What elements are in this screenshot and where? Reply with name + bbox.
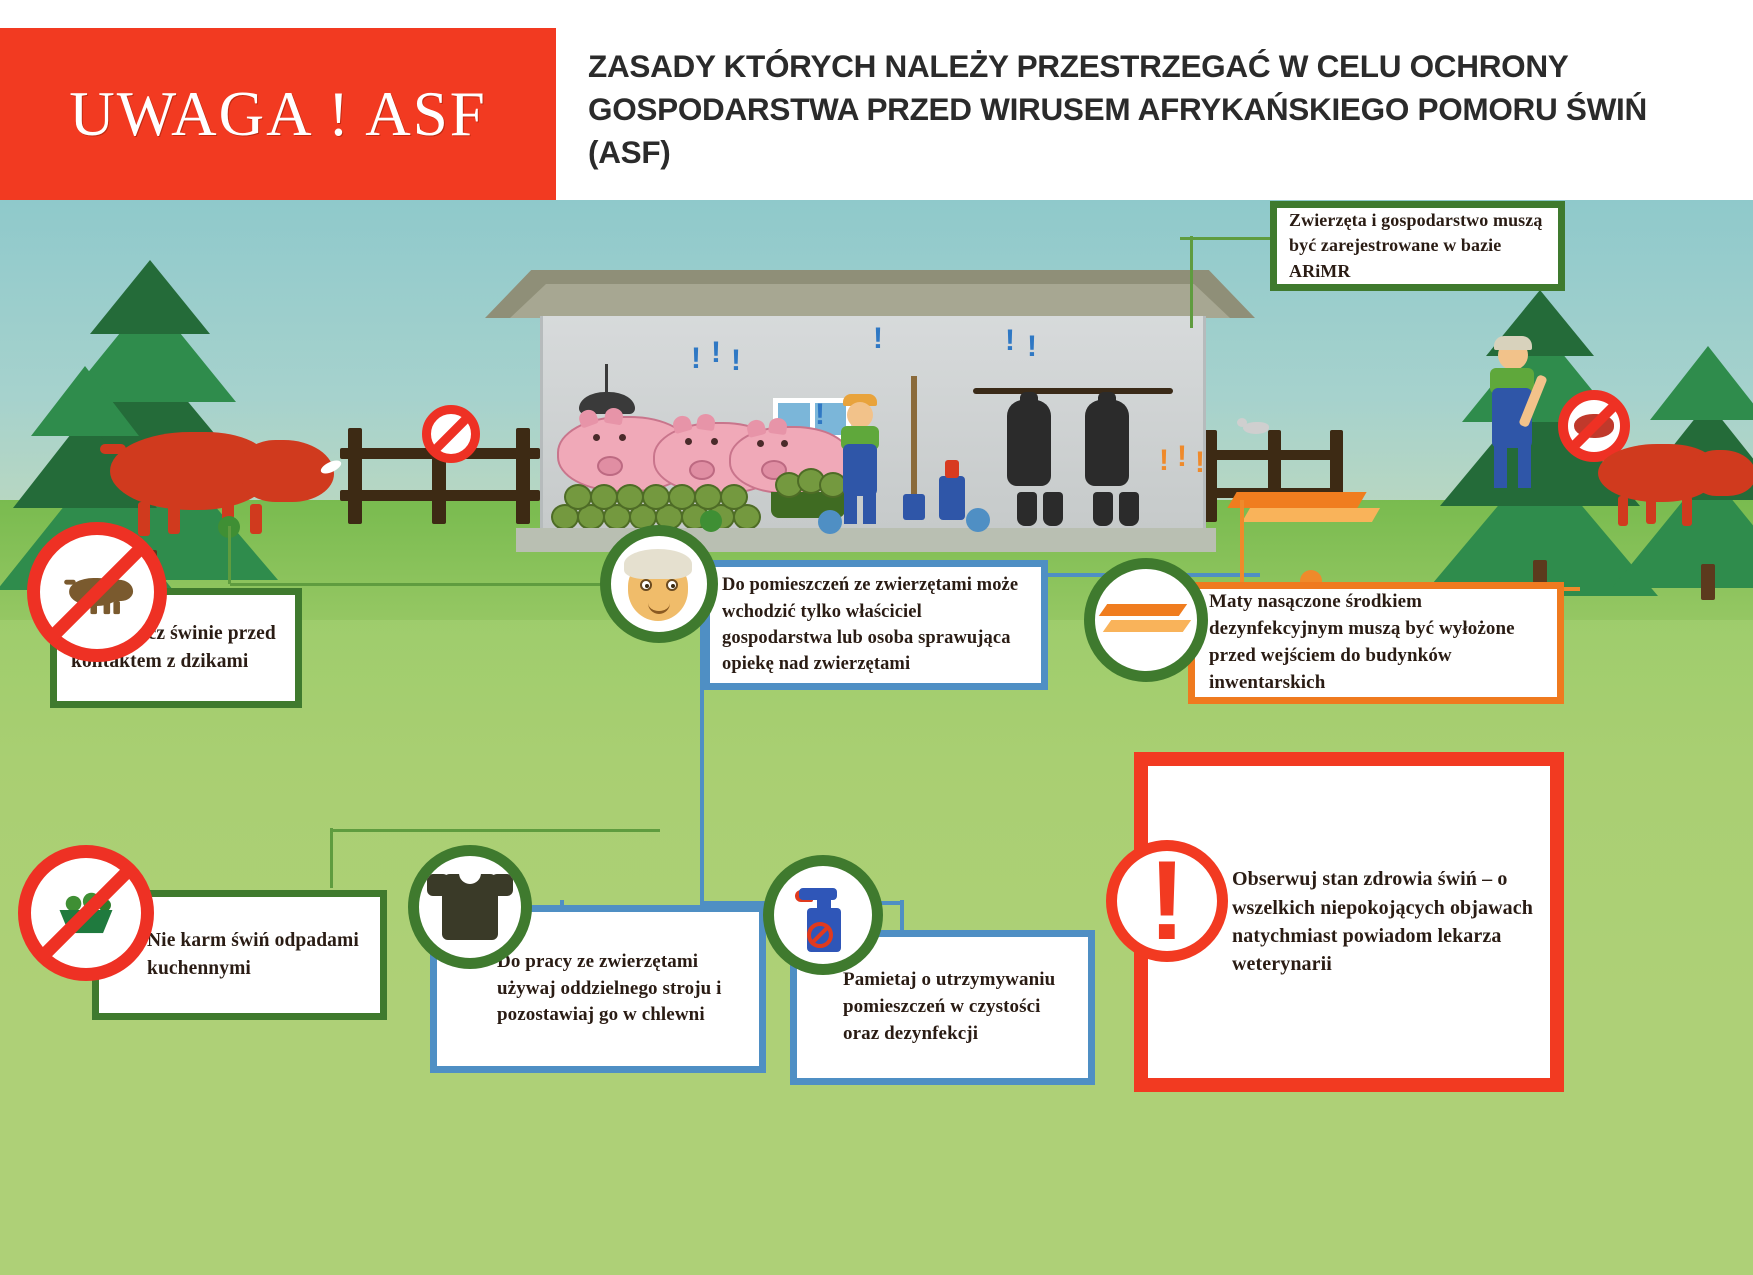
asf-poster: UWAGA ! ASF ZASADY KTÓRYCH NALEŻY PRZEST…: [0, 0, 1753, 1275]
broom-icon: [903, 376, 923, 526]
callout-cleanliness-text: Pamietaj o utrzymywaniu pomieszczeń w cz…: [843, 967, 1078, 1048]
callout-access-text: Do pomieszczeń ze zwierzętami może wchod…: [722, 572, 1031, 677]
callout-kitchen-waste-text: Nie karm świń odpadami kuchennymi: [147, 927, 370, 982]
no-wild-boar-icon[interactable]: [27, 522, 167, 662]
connector-node: [966, 508, 990, 532]
disinfection-mat: [1242, 508, 1380, 522]
farmer-face-icon[interactable]: [600, 525, 718, 643]
coat-icon: [1085, 400, 1129, 486]
exclamation-mark: !: [731, 346, 743, 376]
connector-node: [818, 510, 842, 534]
barn-building: ! ! ! ! ! ! ! ! ! !: [540, 270, 1200, 550]
connector-line: [1240, 500, 1245, 586]
connector-line: [1190, 236, 1194, 328]
farmer-figure: [1480, 340, 1560, 490]
boot-icon: [1017, 492, 1037, 526]
straw-bales: [551, 482, 761, 530]
callout-mats: Maty nasączone środkiem dezynfekcyjnym m…: [1188, 582, 1564, 704]
exclamation-mark: !: [1027, 332, 1039, 362]
barn-wall: ! ! ! ! ! ! ! ! ! !: [540, 316, 1206, 530]
callout-mats-text: Maty nasączone środkiem dezynfekcyjnym m…: [1209, 589, 1547, 697]
callout-access: Do pomieszczeń ze zwierzętami może wchod…: [703, 560, 1048, 690]
wild-boar-illustration: [1598, 432, 1753, 532]
lamp-cord: [605, 364, 608, 394]
warning-badge: UWAGA ! ASF: [0, 28, 556, 200]
exclamation-mark: !: [873, 324, 885, 354]
no-entry-sign-icon: [422, 405, 480, 463]
exclamation-mark: !: [711, 338, 723, 368]
fence-post: [516, 428, 530, 524]
exclamation-mark: !: [691, 344, 703, 374]
warning-badge-label: UWAGA ! ASF: [69, 78, 487, 151]
mat-glyph: [1103, 600, 1189, 640]
exclamation-icon[interactable]: !: [1106, 840, 1228, 962]
disinfection-mat-icon[interactable]: [1084, 558, 1208, 682]
no-kitchen-waste-icon[interactable]: [18, 845, 154, 981]
poster-title: ZASADY KTÓRYCH NALEŻY PRZESTRZEGAĆ W CEL…: [588, 45, 1708, 173]
callout-clothing-text: Do pracy ze zwierzętami używaj oddzielne…: [497, 949, 749, 1030]
poster-header: UWAGA ! ASF ZASADY KTÓRYCH NALEŻY PRZEST…: [0, 0, 1753, 200]
exclamation-glyph: !: [1148, 855, 1185, 947]
disinfection-mat: [1227, 492, 1366, 508]
farmer-face-glyph: [620, 545, 698, 623]
callout-registration: Zwierzęta i gospodarstwo muszą być zarej…: [1270, 201, 1565, 291]
callout-health-watch-text: Obserwuj stan zdrowia świń – o wszelkich…: [1232, 865, 1536, 979]
spray-canister-icon: [935, 446, 969, 526]
tshirt-icon[interactable]: [408, 845, 532, 969]
exclamation-mark: !: [1195, 448, 1207, 478]
spray-bottle-glyph: [795, 878, 851, 952]
spray-bottle-icon[interactable]: [763, 855, 883, 975]
exclamation-mark: !: [1177, 442, 1189, 472]
connector-line: [330, 828, 660, 832]
boot-icon: [1119, 492, 1139, 526]
boot-icon: [1093, 492, 1113, 526]
farm-scene: ! ! ! ! ! ! ! ! ! !: [0, 200, 1753, 1275]
connector-line: [228, 526, 232, 584]
callout-registration-text: Zwierzęta i gospodarstwo muszą być zarej…: [1289, 208, 1546, 285]
connector-node: [700, 510, 722, 532]
connector-line: [330, 828, 334, 888]
coat-rack: [973, 388, 1173, 528]
coat-icon: [1007, 400, 1051, 486]
bird-icon: [1243, 422, 1269, 434]
tshirt-glyph: [442, 874, 498, 940]
exclamation-mark: !: [1005, 326, 1017, 356]
barn-roof-ridge: [510, 284, 1230, 318]
connector-line: [230, 582, 650, 586]
boot-icon: [1043, 492, 1063, 526]
farmer-figure: [833, 394, 903, 514]
